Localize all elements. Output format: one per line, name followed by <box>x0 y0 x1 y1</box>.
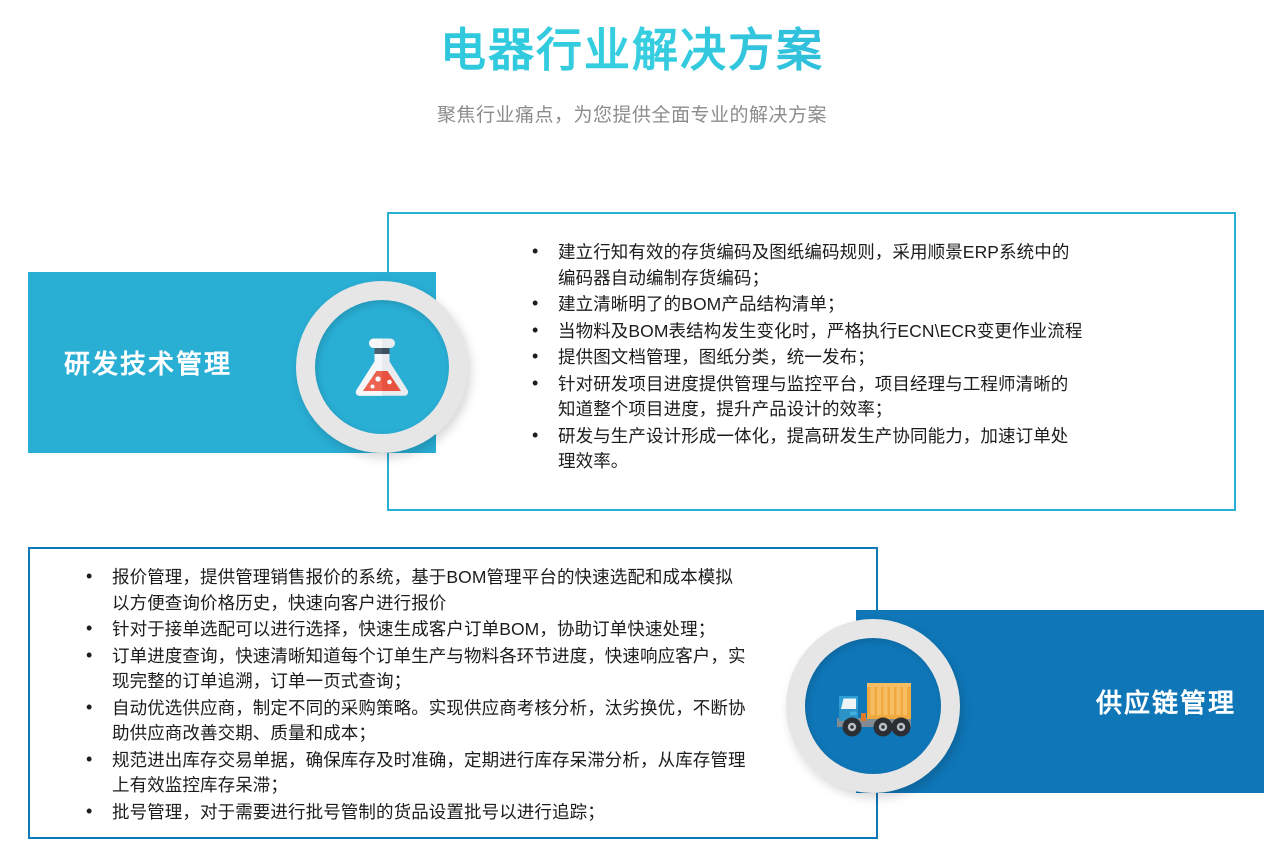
list-item: 当物料及BOM表结构发生变化时，严格执行ECN\ECR变更作业流程 <box>524 319 1084 345</box>
list-item: 建立行知有效的存货编码及图纸编码规则，采用顺景ERP系统中的编码器自动编制存货编… <box>524 240 1084 291</box>
list-item: 研发与生产设计形成一体化，提高研发生产协同能力，加速订单处理效率。 <box>524 424 1084 475</box>
rd-icon-medallion <box>296 281 468 453</box>
page-subtitle: 聚焦行业痛点，为您提供全面专业的解决方案 <box>0 80 1264 127</box>
list-item: 报价管理，提供管理销售报价的系统，基于BOM管理平台的快速选配和成本模拟以方便查… <box>78 565 746 616</box>
list-item: 建立清晰明了的BOM产品结构清单； <box>524 292 1084 318</box>
list-item: 针对研发项目进度提供管理与监控平台，项目经理与工程师清晰的知道整个项目进度，提升… <box>524 372 1084 423</box>
list-item: 针对于接单选配可以进行选择，快速生成客户订单BOM，协助订单快速处理； <box>78 617 746 643</box>
list-item: 自动优选供应商，制定不同的采购策略。实现供应商考核分析，汰劣换优，不断协助供应商… <box>78 696 746 747</box>
list-item: 提供图文档管理，图纸分类，统一发布； <box>524 345 1084 371</box>
list-item: 批号管理，对于需要进行批号管制的货品设置批号以进行追踪； <box>78 800 746 826</box>
scm-label-text: 供应链管理 <box>1096 683 1236 720</box>
flask-icon <box>345 330 419 404</box>
rd-icon-inner-circle <box>315 300 449 434</box>
truck-icon <box>831 671 915 741</box>
list-item: 规范进出库存交易单据，确保库存及时准确，定期进行库存呆滞分析，从库存管理上有效监… <box>78 748 746 799</box>
scm-bullet-list-wrapper: 报价管理，提供管理销售报价的系统，基于BOM管理平台的快速选配和成本模拟以方便查… <box>78 565 746 826</box>
list-item: 订单进度查询，快速清晰知道每个订单生产与物料各环节进度，快速响应客户，实现完整的… <box>78 644 746 695</box>
rd-bullet-list-wrapper: 建立行知有效的存货编码及图纸编码规则，采用顺景ERP系统中的编码器自动编制存货编… <box>524 240 1084 476</box>
page-title: 电器行业解决方案 <box>0 0 1264 80</box>
page-header: 电器行业解决方案 聚焦行业痛点，为您提供全面专业的解决方案 <box>0 0 1264 127</box>
rd-bullet-list: 建立行知有效的存货编码及图纸编码规则，采用顺景ERP系统中的编码器自动编制存货编… <box>524 240 1084 475</box>
rd-label-text: 研发技术管理 <box>64 344 232 381</box>
scm-icon-medallion <box>786 619 960 793</box>
scm-bullet-list: 报价管理，提供管理销售报价的系统，基于BOM管理平台的快速选配和成本模拟以方便查… <box>78 565 746 825</box>
scm-icon-inner-circle <box>805 638 941 774</box>
